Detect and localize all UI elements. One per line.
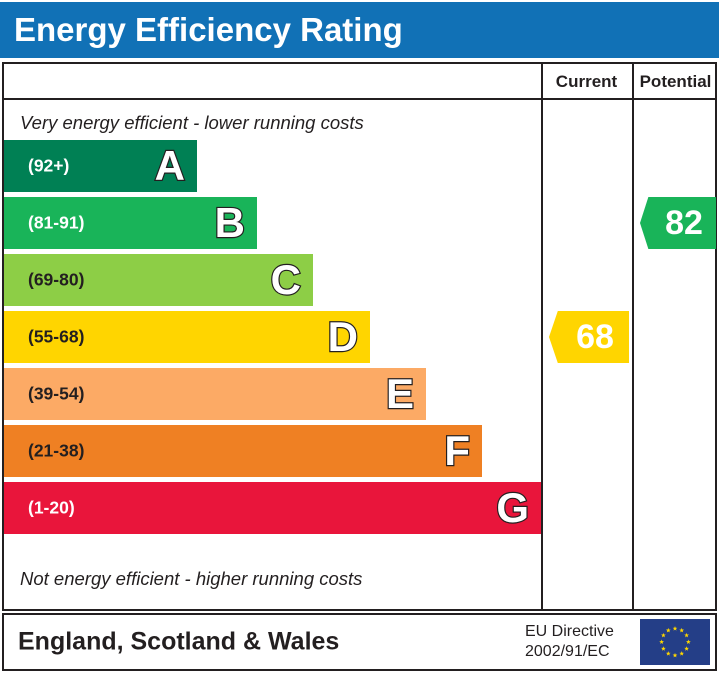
band-letter-f: F (444, 430, 470, 472)
epc-certificate: Energy Efficiency Rating Current Potenti… (0, 0, 719, 675)
band-range-b: (81-91) (28, 213, 84, 234)
directive-line-2: 2002/91/EC (525, 642, 614, 662)
rating-marker-potential: 82 (640, 197, 716, 249)
page-title: Energy Efficiency Rating (14, 11, 403, 49)
band-letter-a: A (155, 145, 185, 187)
eu-flag-stars (641, 620, 709, 664)
footer-directive-label: EU Directive 2002/91/EC (525, 622, 614, 662)
band-letter-e: E (386, 373, 414, 415)
band-range-f: (21-38) (28, 441, 84, 462)
column-header-current: Current (541, 64, 632, 100)
title-bar: Energy Efficiency Rating (0, 2, 719, 58)
band-range-g: (1-20) (28, 498, 75, 519)
band-range-d: (55-68) (28, 327, 84, 348)
column-divider-potential (632, 64, 634, 609)
band-c: (69-80)C (4, 254, 313, 306)
band-range-a: (92+) (28, 156, 69, 177)
band-range-e: (39-54) (28, 384, 84, 405)
rating-value-potential: 82 (653, 206, 703, 240)
bands-area: Very energy efficient - lower running co… (4, 100, 541, 609)
band-d: (55-68)D (4, 311, 370, 363)
band-letter-c: C (271, 259, 301, 301)
table-header-row: Current Potential (4, 64, 715, 100)
footer: England, Scotland & Wales EU Directive 2… (2, 613, 717, 671)
caption-bottom: Not energy efficient - higher running co… (20, 568, 362, 590)
rating-value-current: 68 (564, 320, 614, 354)
band-f: (21-38)F (4, 425, 482, 477)
band-e: (39-54)E (4, 368, 426, 420)
band-b: (81-91)B (4, 197, 257, 249)
band-g: (1-20)G (4, 482, 541, 534)
band-letter-g: G (496, 487, 529, 529)
footer-region-label: England, Scotland & Wales (18, 628, 339, 657)
caption-top: Very energy efficient - lower running co… (20, 112, 364, 134)
band-range-c: (69-80) (28, 270, 84, 291)
rating-table: Current Potential Very energy efficient … (2, 62, 717, 611)
column-header-potential: Potential (632, 64, 719, 100)
eu-flag-icon (640, 619, 710, 665)
band-a: (92+)A (4, 140, 197, 192)
column-divider-current (541, 64, 543, 609)
directive-line-1: EU Directive (525, 622, 614, 642)
band-letter-b: B (215, 202, 245, 244)
rating-marker-current: 68 (549, 311, 629, 363)
band-letter-d: D (328, 316, 358, 358)
